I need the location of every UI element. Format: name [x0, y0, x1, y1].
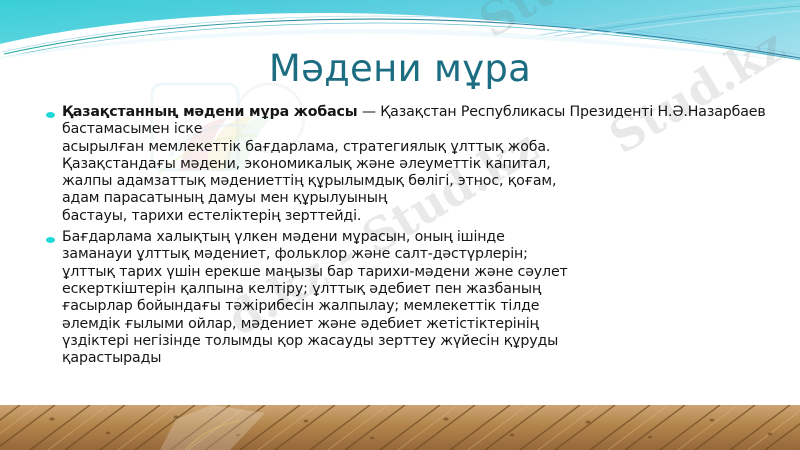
bullet-lead-bold-1: Қазақстанның мәдени мұра жобасы	[62, 104, 357, 120]
bullet-paragraph-1: Қазақстанның мәдени мұра жобасы — Қазақс…	[62, 104, 766, 225]
bullet-marker	[40, 229, 62, 243]
bullet-paragraph-2: Бағдарлама халықтың үлкен мәдени мұрасын…	[62, 229, 766, 367]
bullet-dot-icon	[46, 112, 55, 118]
slide-title: Мәдени мұра	[0, 48, 800, 91]
wood-plank-graphic-icon	[0, 405, 800, 450]
bullet-rest-2: Бағдарлама халықтың үлкен мәдени мұрасын…	[62, 229, 568, 366]
bullet-marker	[40, 104, 62, 118]
bullet-rest-1: — Қазақстан Республикасы Президенті Н.Ә.…	[62, 104, 766, 224]
bullet-dot-icon	[46, 237, 55, 243]
list-item: Бағдарлама халықтың үлкен мәдени мұрасын…	[40, 229, 766, 367]
slide-canvas: Stud.kz Stud.kz d.kz - Stud.kz Мәдени мұ…	[0, 0, 800, 450]
list-item: Қазақстанның мәдени мұра жобасы — Қазақс…	[40, 104, 766, 225]
slide-body: Қазақстанның мәдени мұра жобасы — Қазақс…	[40, 104, 766, 371]
wooden-floor-image	[0, 405, 800, 450]
